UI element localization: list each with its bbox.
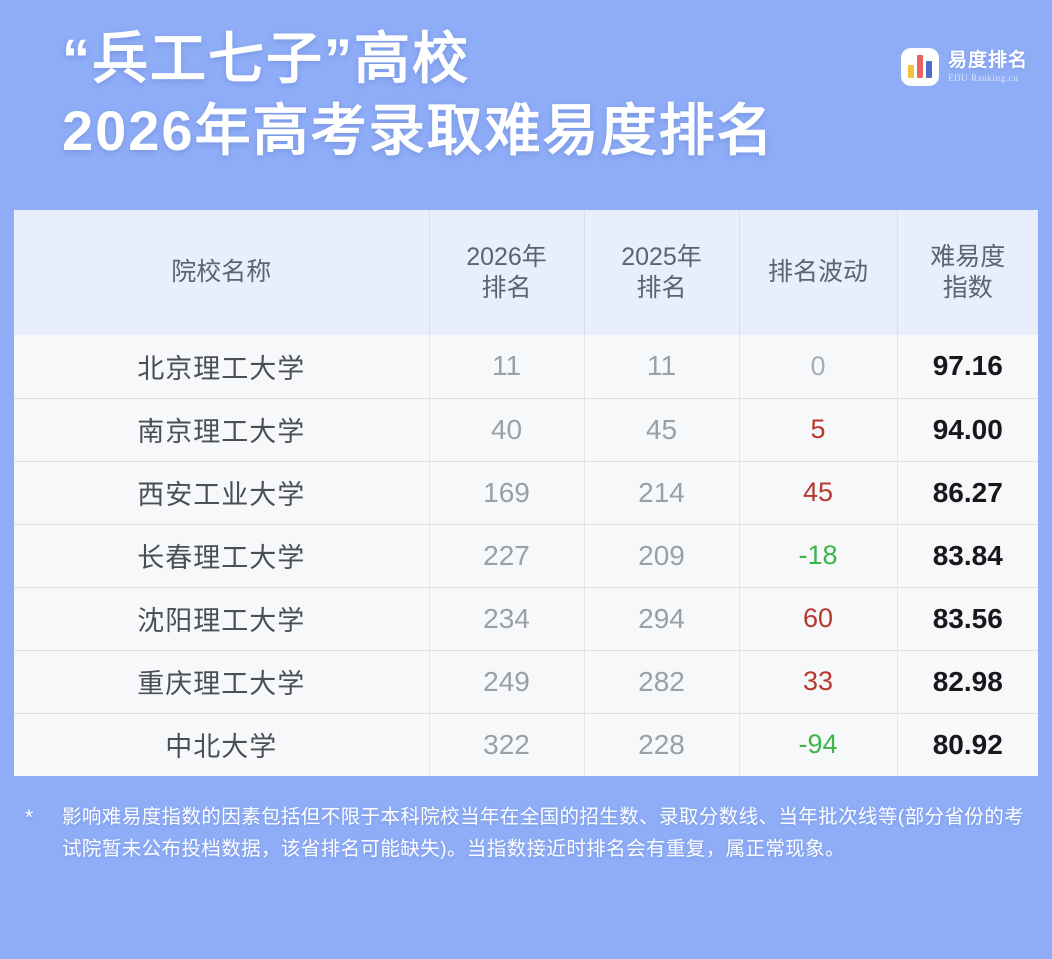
logo-bar-blue [926, 61, 932, 78]
table-row[interactable]: 中北大学322228-9480.92 [14, 713, 1038, 776]
cell-rank-2025: 11 [584, 335, 739, 398]
bar-chart-logo-icon [901, 48, 939, 86]
cell-difficulty-index: 83.84 [897, 524, 1038, 587]
footnote: * 影响难易度指数的因素包括但不限于本科院校当年在全国的招生数、录取分数线、当年… [0, 776, 1052, 865]
title-block: “兵工七子”高校 2026年高考录取难易度排名 [0, 26, 1052, 164]
column-header-rank-2026-line1: 2026年 [434, 242, 580, 273]
cell-rank-2025: 45 [584, 398, 739, 461]
cell-rank-2025: 282 [584, 650, 739, 713]
footnote-text: 影响难易度指数的因素包括但不限于本科院校当年在全国的招生数、录取分数线、当年批次… [62, 802, 1026, 865]
ranking-table-container: 易度排名 EDU Ranking.cn 院校名称 2026年 排名 2025年 … [14, 210, 1038, 776]
column-header-rank-2025[interactable]: 2025年 排名 [584, 210, 739, 335]
column-header-rank-2026-line2: 排名 [434, 273, 580, 304]
logo-name-en: EDU Ranking.cn [948, 73, 1028, 83]
logo-name-cn: 易度排名 [948, 51, 1028, 71]
cell-rank-delta: 33 [739, 650, 897, 713]
column-header-rank-2025-line2: 排名 [589, 273, 735, 304]
cell-rank-delta: -94 [739, 713, 897, 776]
column-header-school[interactable]: 院校名称 [14, 210, 429, 335]
cell-school: 南京理工大学 [14, 398, 429, 461]
logo-bar-red [917, 55, 923, 78]
cell-rank-delta: 60 [739, 587, 897, 650]
page-header: “兵工七子”高校 2026年高考录取难易度排名 易度排名 EDU Ranking… [0, 0, 1052, 210]
cell-difficulty-index: 97.16 [897, 335, 1038, 398]
logo-bar-yellow [908, 65, 914, 78]
cell-school: 中北大学 [14, 713, 429, 776]
cell-rank-2026: 169 [429, 461, 584, 524]
column-header-delta[interactable]: 排名波动 [739, 210, 897, 335]
column-header-index-line2: 指数 [902, 273, 1035, 304]
cell-rank-2026: 40 [429, 398, 584, 461]
table-row[interactable]: 西安工业大学1692144586.27 [14, 461, 1038, 524]
table-body: 北京理工大学1111097.16南京理工大学4045594.00西安工业大学16… [14, 335, 1038, 776]
cell-difficulty-index: 86.27 [897, 461, 1038, 524]
cell-difficulty-index: 94.00 [897, 398, 1038, 461]
cell-school: 重庆理工大学 [14, 650, 429, 713]
cell-rank-2025: 214 [584, 461, 739, 524]
cell-rank-delta: 5 [739, 398, 897, 461]
footnote-marker: * [25, 802, 62, 865]
column-header-index[interactable]: 难易度 指数 [897, 210, 1038, 335]
cell-rank-delta: -18 [739, 524, 897, 587]
cell-rank-2026: 322 [429, 713, 584, 776]
cell-school: 沈阳理工大学 [14, 587, 429, 650]
cell-school: 西安工业大学 [14, 461, 429, 524]
ranking-table: 院校名称 2026年 排名 2025年 排名 排名波动 难易度 指数 北京理工大… [14, 210, 1038, 776]
table-header-row: 院校名称 2026年 排名 2025年 排名 排名波动 难易度 指数 [14, 210, 1038, 335]
cell-rank-2026: 227 [429, 524, 584, 587]
column-header-rank-2025-line1: 2025年 [589, 242, 735, 273]
column-header-index-line1: 难易度 [902, 242, 1035, 273]
brand-logo[interactable]: 易度排名 EDU Ranking.cn [901, 48, 1028, 86]
table-head: 院校名称 2026年 排名 2025年 排名 排名波动 难易度 指数 [14, 210, 1038, 335]
table-row[interactable]: 沈阳理工大学2342946083.56 [14, 587, 1038, 650]
cell-difficulty-index: 80.92 [897, 713, 1038, 776]
cell-rank-2025: 228 [584, 713, 739, 776]
table-row[interactable]: 南京理工大学4045594.00 [14, 398, 1038, 461]
cell-rank-2025: 294 [584, 587, 739, 650]
table-row[interactable]: 北京理工大学1111097.16 [14, 335, 1038, 398]
cell-rank-2026: 249 [429, 650, 584, 713]
table-row[interactable]: 长春理工大学227209-1883.84 [14, 524, 1038, 587]
cell-rank-delta: 45 [739, 461, 897, 524]
cell-rank-2026: 234 [429, 587, 584, 650]
cell-difficulty-index: 82.98 [897, 650, 1038, 713]
cell-school: 长春理工大学 [14, 524, 429, 587]
cell-rank-2026: 11 [429, 335, 584, 398]
cell-rank-2025: 209 [584, 524, 739, 587]
cell-difficulty-index: 83.56 [897, 587, 1038, 650]
logo-text-block: 易度排名 EDU Ranking.cn [948, 51, 1028, 83]
column-header-rank-2026[interactable]: 2026年 排名 [429, 210, 584, 335]
cell-school: 北京理工大学 [14, 335, 429, 398]
cell-rank-delta: 0 [739, 335, 897, 398]
table-row[interactable]: 重庆理工大学2492823382.98 [14, 650, 1038, 713]
page-title-line-2: 2026年高考录取难易度排名 [62, 98, 1052, 164]
